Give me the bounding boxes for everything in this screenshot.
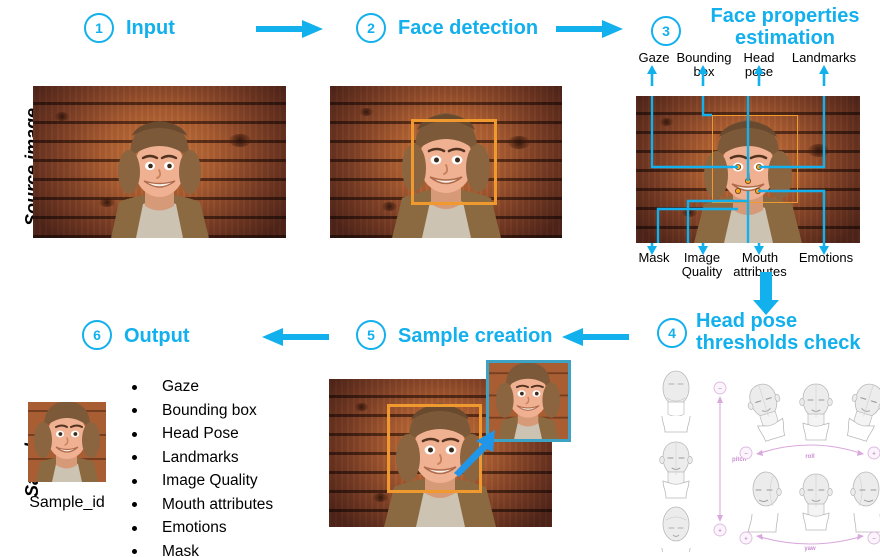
svg-text:+: +: [744, 537, 748, 543]
roll-axis: − + roll: [740, 445, 880, 460]
list-item: Bounding box: [100, 399, 273, 423]
step-4-badge: 4: [657, 318, 687, 348]
step-6-badge: 6: [82, 320, 112, 350]
list-item: Mouth attributes: [100, 493, 273, 517]
step-2-badge: 2: [356, 13, 386, 43]
step-2-number: 2: [356, 13, 386, 43]
face-bounding-box: [411, 119, 497, 205]
head-pose-illustration: − + pitch − + ro: [636, 366, 880, 552]
list-item: Image Quality: [100, 469, 273, 493]
arrow-5-to-6: [262, 325, 330, 354]
crop-extraction-arrow: [440, 430, 500, 483]
pitch-axis: − + pitch: [714, 382, 747, 536]
step-3-badge: 3: [651, 16, 681, 46]
svg-text:+: +: [872, 452, 876, 458]
svg-text:yaw: yaw: [804, 546, 816, 552]
arrow-4-to-5: [562, 325, 630, 354]
list-item: Head Pose: [100, 422, 273, 446]
step-2-title: Face detection: [398, 17, 538, 39]
arrow-2-to-3: [556, 17, 624, 46]
step-1-badge: 1: [84, 13, 114, 43]
step-6-title: Output: [124, 325, 190, 347]
step-3-title: Face properties estimation: [689, 5, 880, 50]
property-connector-lines: [636, 96, 860, 243]
step-6-number: 6: [82, 320, 112, 350]
output-attribute-list: Gaze Bounding box Head Pose Landmarks Im…: [100, 375, 273, 557]
yaw-heads: [748, 472, 880, 532]
step-3-number: 3: [651, 16, 681, 46]
sample-thumbnail: [28, 402, 106, 482]
svg-text:−: −: [744, 452, 748, 458]
svg-text:−: −: [718, 387, 722, 393]
svg-text:roll: roll: [805, 454, 815, 460]
list-item: Mask: [100, 540, 273, 557]
roll-heads: [743, 380, 880, 443]
svg-text:+: +: [718, 529, 722, 535]
list-item: Gaze: [100, 375, 273, 399]
arrow-1-to-2: [256, 17, 324, 46]
face-properties-photo: [636, 96, 860, 243]
list-item: Emotions: [100, 516, 273, 540]
step-5-title: Sample creation: [398, 325, 553, 347]
list-item: Landmarks: [100, 446, 273, 470]
step-1-title: Input: [126, 17, 175, 39]
svg-text:−: −: [872, 537, 876, 543]
yaw-axis: + − yaw: [740, 532, 880, 552]
pitch-heads: [660, 371, 693, 552]
pipeline-diagram: Source image Sample 1 Input: [0, 0, 880, 557]
step-4-number: 4: [657, 318, 687, 348]
step-1-number: 1: [84, 13, 114, 43]
step-5-number: 5: [356, 320, 386, 350]
step-4-title: Head pose thresholds check: [696, 310, 878, 355]
input-photo: [33, 86, 286, 238]
step-5-badge: 5: [356, 320, 386, 350]
portrait-illustration: [33, 86, 286, 238]
face-detection-photo: [330, 86, 562, 238]
